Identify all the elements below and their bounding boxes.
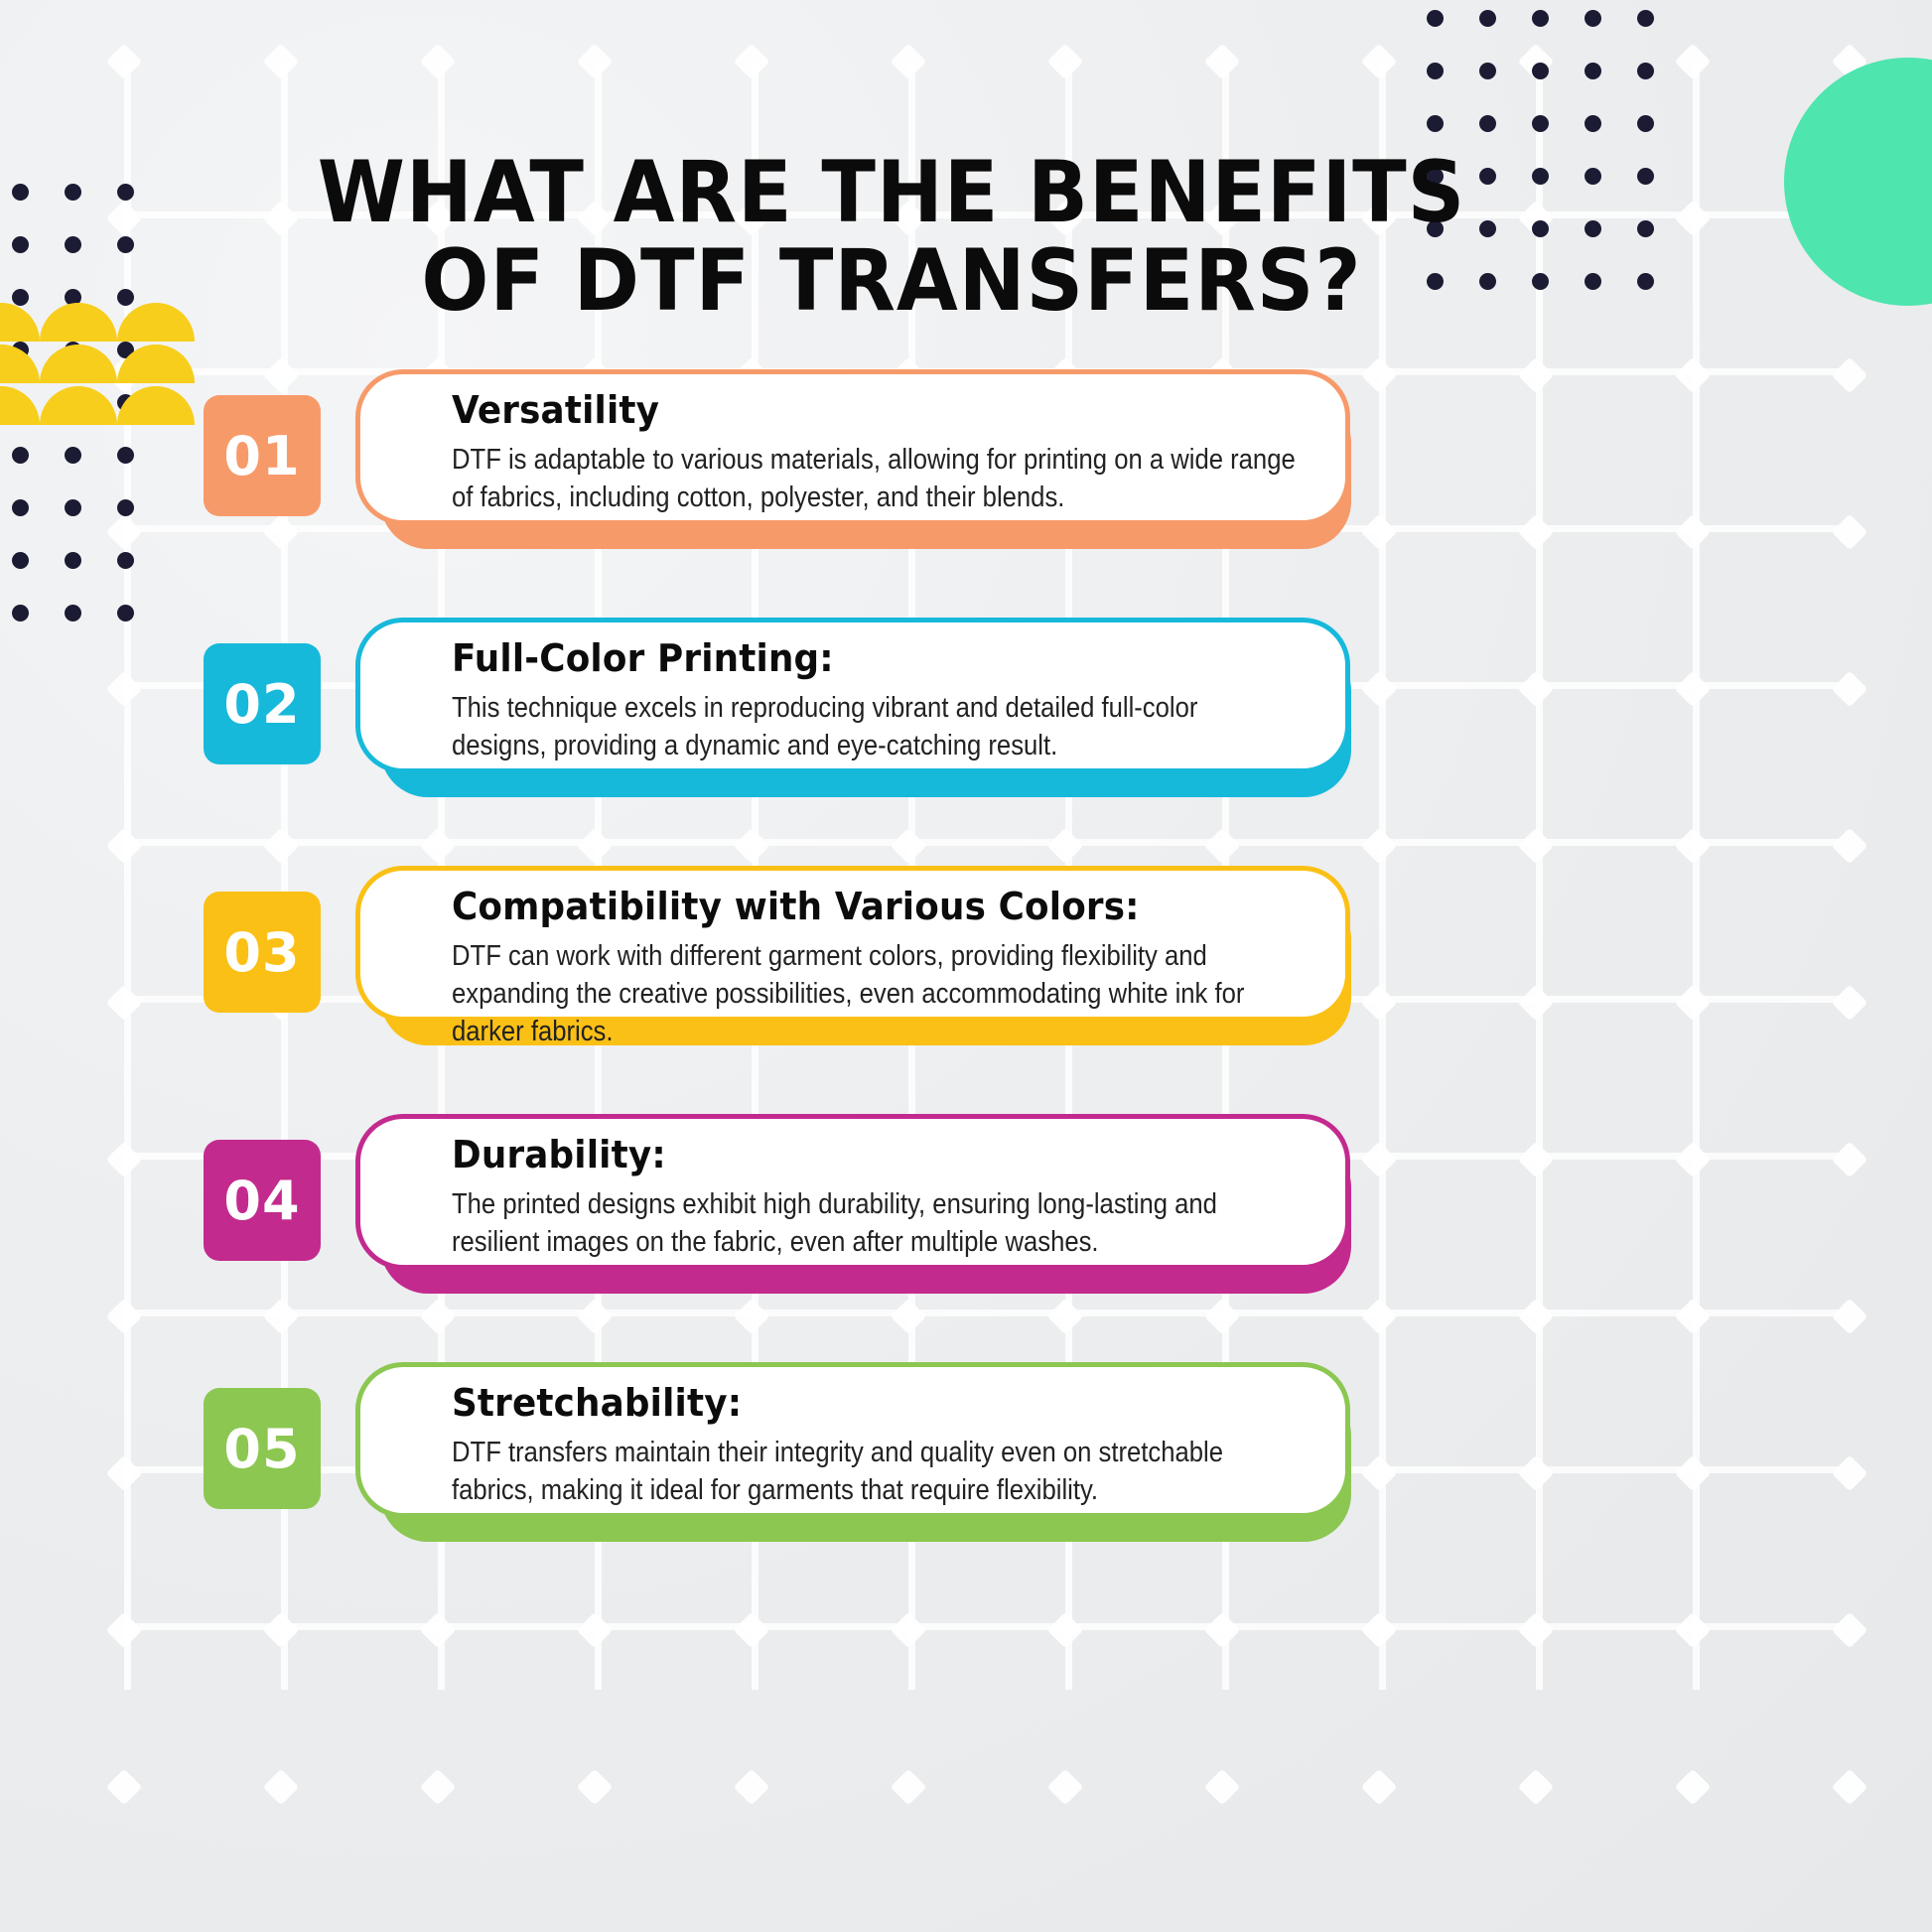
benefit-body-text: The printed designs exhibit high durabil… [452,1186,1299,1262]
decorative-dot [1637,273,1654,290]
decorative-dot [1532,10,1549,27]
decorative-dot [117,184,134,201]
benefit-number-label: 04 [223,1170,300,1232]
decorative-dot [1479,10,1496,27]
benefit-number-label: 05 [223,1418,300,1480]
benefit-number-label: 01 [223,425,300,487]
decorative-dot [1585,273,1601,290]
decorative-dot [1479,63,1496,79]
grid-diamond-node [734,1769,770,1806]
benefit-number-badge: 05 [204,1388,321,1509]
grid-diamond-node [1518,1769,1555,1806]
decorative-dot [1585,10,1601,27]
benefit-number-badge: 02 [204,643,321,764]
grid-diamond-node [1047,1769,1084,1806]
decorative-dot [65,184,81,201]
benefit-number-label: 02 [223,673,300,736]
decorative-dot [1427,115,1444,132]
benefit-row: 01VersatilityDTF is adaptable to various… [0,365,1932,576]
decorative-dot [1637,10,1654,27]
benefit-row: 05Stretchability:DTF transfers maintain … [0,1358,1932,1569]
decorative-dot [117,236,134,253]
decorative-dot [1637,220,1654,237]
benefit-body-text: DTF can work with different garment colo… [452,938,1299,1051]
benefit-body-text: DTF is adaptable to various materials, a… [452,442,1299,517]
benefit-body-text: This technique excels in reproducing vib… [452,690,1299,765]
benefit-number-badge: 01 [204,395,321,516]
decorative-dot [1585,168,1601,185]
decorative-dot [65,236,81,253]
benefit-card[interactable]: Full-Color Printing:This technique excel… [355,618,1350,773]
benefit-heading: Compatibility with Various Colors: [452,887,1249,928]
decorative-dot [1585,220,1601,237]
decorative-dot [1637,63,1654,79]
grid-diamond-node [1832,1769,1868,1806]
benefit-heading: Durability: [452,1135,1249,1176]
benefit-card[interactable]: VersatilityDTF is adaptable to various m… [355,369,1350,525]
yellow-arch-shape [0,303,40,342]
page-title: WHAT ARE THE BENEFITS OF DTF TRANSFERS? [273,149,1510,327]
decorative-dot [117,289,134,306]
decorative-dot [12,184,29,201]
decorative-dot [1427,63,1444,79]
benefits-list: 01VersatilityDTF is adaptable to various… [0,365,1932,1606]
grid-diamond-node [420,1769,457,1806]
infographic-canvas: WHAT ARE THE BENEFITS OF DTF TRANSFERS? … [0,0,1932,1932]
decorative-dot [1532,220,1549,237]
benefit-card[interactable]: Compatibility with Various Colors:DTF ca… [355,866,1350,1022]
grid-diamond-node [577,1769,614,1806]
decorative-dot [1585,115,1601,132]
benefit-row: 02Full-Color Printing:This technique exc… [0,614,1932,824]
decorative-dot [12,236,29,253]
decorative-dot [1532,273,1549,290]
decorative-dot [1637,115,1654,132]
benefit-number-badge: 04 [204,1140,321,1261]
benefit-row: 04Durability:The printed designs exhibit… [0,1110,1932,1320]
decorative-dot [1532,115,1549,132]
grid-diamond-node [1675,1769,1712,1806]
benefit-card[interactable]: Durability:The printed designs exhibit h… [355,1114,1350,1270]
grid-diamond-node [1361,1769,1398,1806]
grid-diamond-node [106,1769,143,1806]
benefit-body-text: DTF transfers maintain their integrity a… [452,1435,1299,1510]
benefit-row: 03Compatibility with Various Colors:DTF … [0,862,1932,1072]
benefit-card[interactable]: Stretchability:DTF transfers maintain th… [355,1362,1350,1518]
benefit-heading: Stretchability: [452,1383,1249,1425]
decorative-dot [1585,63,1601,79]
benefit-heading: Full-Color Printing: [452,638,1249,680]
decorative-dot [1479,115,1496,132]
decorative-dot [1427,10,1444,27]
benefit-heading: Versatility [452,390,1249,432]
grid-diamond-node [1204,1769,1241,1806]
benefit-number-label: 03 [223,921,300,984]
yellow-arch-shape [40,303,117,342]
decorative-dot [1532,63,1549,79]
grid-diamond-node [263,1769,300,1806]
decorative-dot [1532,168,1549,185]
grid-diamond-node [891,1769,927,1806]
benefit-number-badge: 03 [204,892,321,1013]
decorative-dot [1637,168,1654,185]
decorative-dot [12,289,29,306]
